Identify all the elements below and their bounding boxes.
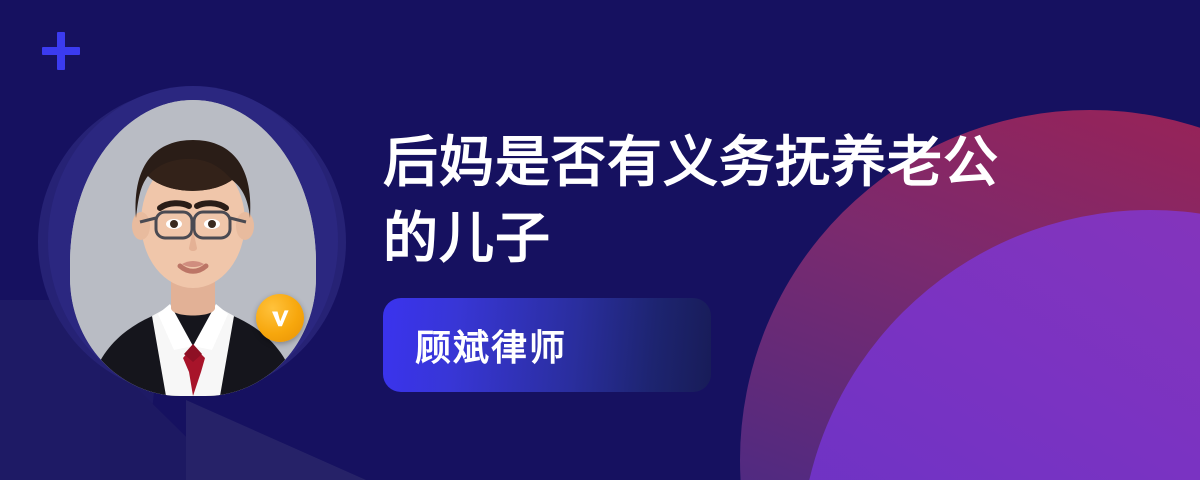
- verified-v-badge-icon: [256, 294, 304, 342]
- content-block: 后妈是否有义务抚养老公的儿子 顾斌律师: [383, 124, 1083, 392]
- lawyer-qa-banner: 后妈是否有义务抚养老公的儿子 顾斌律师: [0, 0, 1200, 480]
- triangle-shape-a: [186, 400, 456, 480]
- author-button[interactable]: 顾斌律师: [383, 298, 711, 392]
- page-title: 后妈是否有义务抚养老公的儿子: [383, 124, 1013, 276]
- avatar: [48, 86, 338, 396]
- plus-icon: [42, 32, 80, 70]
